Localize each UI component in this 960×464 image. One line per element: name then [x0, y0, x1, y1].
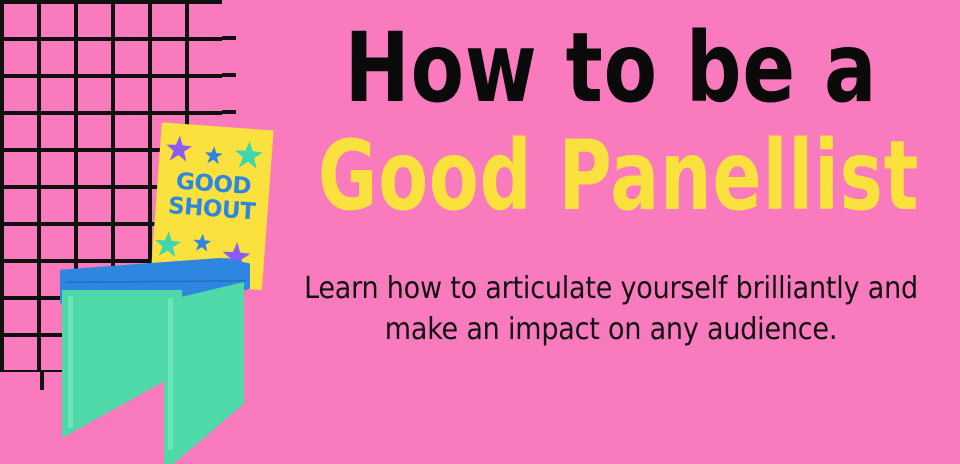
star-green-icon [154, 230, 182, 258]
headline-line-1: How to be a [297, 16, 925, 120]
sign-text-line-2: SHOUT [155, 193, 269, 226]
subtitle: Learn how to articulate yourself brillia… [272, 268, 950, 350]
headline-line-2: Good Panellist [318, 124, 904, 228]
sign-text: GOOD SHOUT [155, 168, 270, 226]
star-purple-icon [165, 135, 193, 163]
star-blue-icon [193, 233, 212, 252]
chair-illustration: GOOD SHOUT [0, 0, 300, 464]
chair-leg-left-highlight [68, 296, 73, 428]
star-green-icon [234, 140, 264, 170]
chair-leg-right-highlight [168, 298, 173, 450]
poster-canvas: GOOD SHOUT How to be a Good Panellist Le… [0, 0, 960, 464]
chair-leg-right [164, 282, 244, 464]
star-blue-icon [204, 146, 223, 165]
copy-block: How to be a Good Panellist Learn how to … [262, 0, 960, 464]
